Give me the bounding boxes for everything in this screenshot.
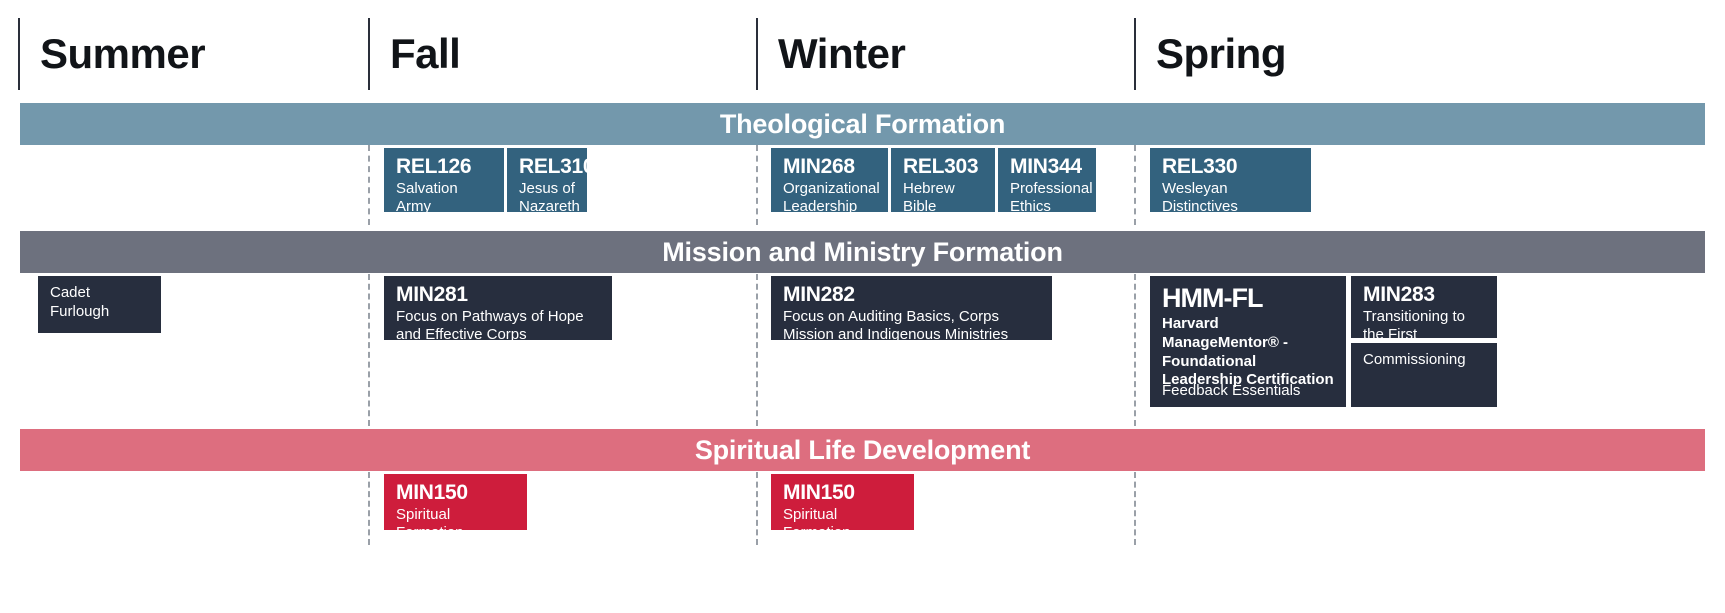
course-box-hmm-fl[interactable]: HMM-FL Harvard ManageMentor® - Foundatio… <box>1150 276 1346 407</box>
course-box-min283[interactable]: MIN283 Transitioning to the First Appoin… <box>1351 276 1497 338</box>
course-box-cadet-furlough[interactable]: Cadet Furlough <box>38 276 161 333</box>
course-code: MIN282 <box>783 284 1042 307</box>
course-title: Organizational Leadership <box>783 180 878 212</box>
course-title: Spiritual Formation <box>783 506 904 530</box>
course-box-min281[interactable]: MIN281 Focus on Pathways of Hope and Eff… <box>384 276 612 340</box>
track-title-theological: Theological Formation <box>720 109 1005 140</box>
season-label-spring: Spring <box>1156 33 1286 75</box>
course-box-min344[interactable]: MIN344 Professional Ethics <box>998 148 1096 212</box>
column-divider-spring-3 <box>1134 472 1136 545</box>
season-column-winter: Winter <box>756 18 1134 90</box>
season-label-summer: Summer <box>40 33 205 75</box>
course-title: Harvard ManageMentor® - Foundational Lea… <box>1162 315 1336 390</box>
course-code: REL330 <box>1162 156 1301 179</box>
course-box-rel310[interactable]: REL310 Jesus of Nazareth <box>507 148 587 212</box>
course-title: Transitioning to the First Appointment <box>1363 308 1487 338</box>
season-column-summer: Summer <box>18 18 368 90</box>
course-code: MIN150 <box>783 482 904 505</box>
course-title: Spiritual Formation <box>396 506 517 530</box>
course-box-rel126[interactable]: REL126 Salvation Army Theology <box>384 148 504 212</box>
course-code: REL126 <box>396 156 494 179</box>
course-box-min150-winter[interactable]: MIN150 Spiritual Formation <box>771 474 914 530</box>
academic-year-timeline: Summer Fall Winter Spring Theological Fo… <box>0 0 1725 613</box>
season-column-fall: Fall <box>368 18 756 90</box>
course-code: REL303 <box>903 156 985 179</box>
track-title-spiritual: Spiritual Life Development <box>695 435 1030 466</box>
course-title: Hebrew Bible Prophets <box>903 180 985 212</box>
course-box-min150-fall[interactable]: MIN150 Spiritual Formation <box>384 474 527 530</box>
course-code: MIN150 <box>396 482 517 505</box>
course-box-commissioning[interactable]: Commissioning <box>1351 343 1497 407</box>
season-header-row: Summer Fall Winter Spring <box>0 0 1725 100</box>
course-title: Salvation Army Theology <box>396 180 494 212</box>
course-title: Wesleyan Distinctives <box>1162 180 1301 212</box>
course-box-rel330[interactable]: REL330 Wesleyan Distinctives <box>1150 148 1311 212</box>
course-title: Commissioning <box>1363 351 1487 370</box>
course-box-min268[interactable]: MIN268 Organizational Leadership <box>771 148 888 212</box>
course-code: MIN283 <box>1363 284 1487 307</box>
course-title: Focus on Auditing Basics, Corps Mission … <box>783 308 1042 340</box>
column-divider-winter <box>756 145 758 225</box>
course-box-min282[interactable]: MIN282 Focus on Auditing Basics, Corps M… <box>771 276 1052 340</box>
course-code: HMM-FL <box>1162 284 1336 313</box>
track-bar-mission: Mission and Ministry Formation <box>20 231 1705 273</box>
course-title: Professional Ethics <box>1010 180 1086 212</box>
season-label-fall: Fall <box>390 33 460 75</box>
column-divider-fall-3 <box>368 472 370 545</box>
course-footer-note: Feedback Essentials <box>1162 382 1300 399</box>
column-divider-winter-2 <box>756 274 758 426</box>
course-box-rel303[interactable]: REL303 Hebrew Bible Prophets <box>891 148 995 212</box>
column-divider-fall <box>368 145 370 225</box>
column-divider-spring <box>1134 145 1136 225</box>
season-column-spring: Spring <box>1134 18 1525 90</box>
column-divider-winter-3 <box>756 472 758 545</box>
season-label-winter: Winter <box>778 33 905 75</box>
course-title: Jesus of Nazareth <box>519 180 577 212</box>
track-title-mission: Mission and Ministry Formation <box>662 237 1063 268</box>
course-title: Cadet Furlough <box>50 284 151 322</box>
course-code: MIN344 <box>1010 156 1086 179</box>
course-code: MIN281 <box>396 284 602 307</box>
course-code: MIN268 <box>783 156 878 179</box>
course-title: Focus on Pathways of Hope and Effective … <box>396 308 602 340</box>
column-divider-fall-2 <box>368 274 370 426</box>
column-divider-spring-2 <box>1134 274 1136 426</box>
track-bar-theological: Theological Formation <box>20 103 1705 145</box>
track-bar-spiritual: Spiritual Life Development <box>20 429 1705 471</box>
course-code: REL310 <box>519 156 577 179</box>
